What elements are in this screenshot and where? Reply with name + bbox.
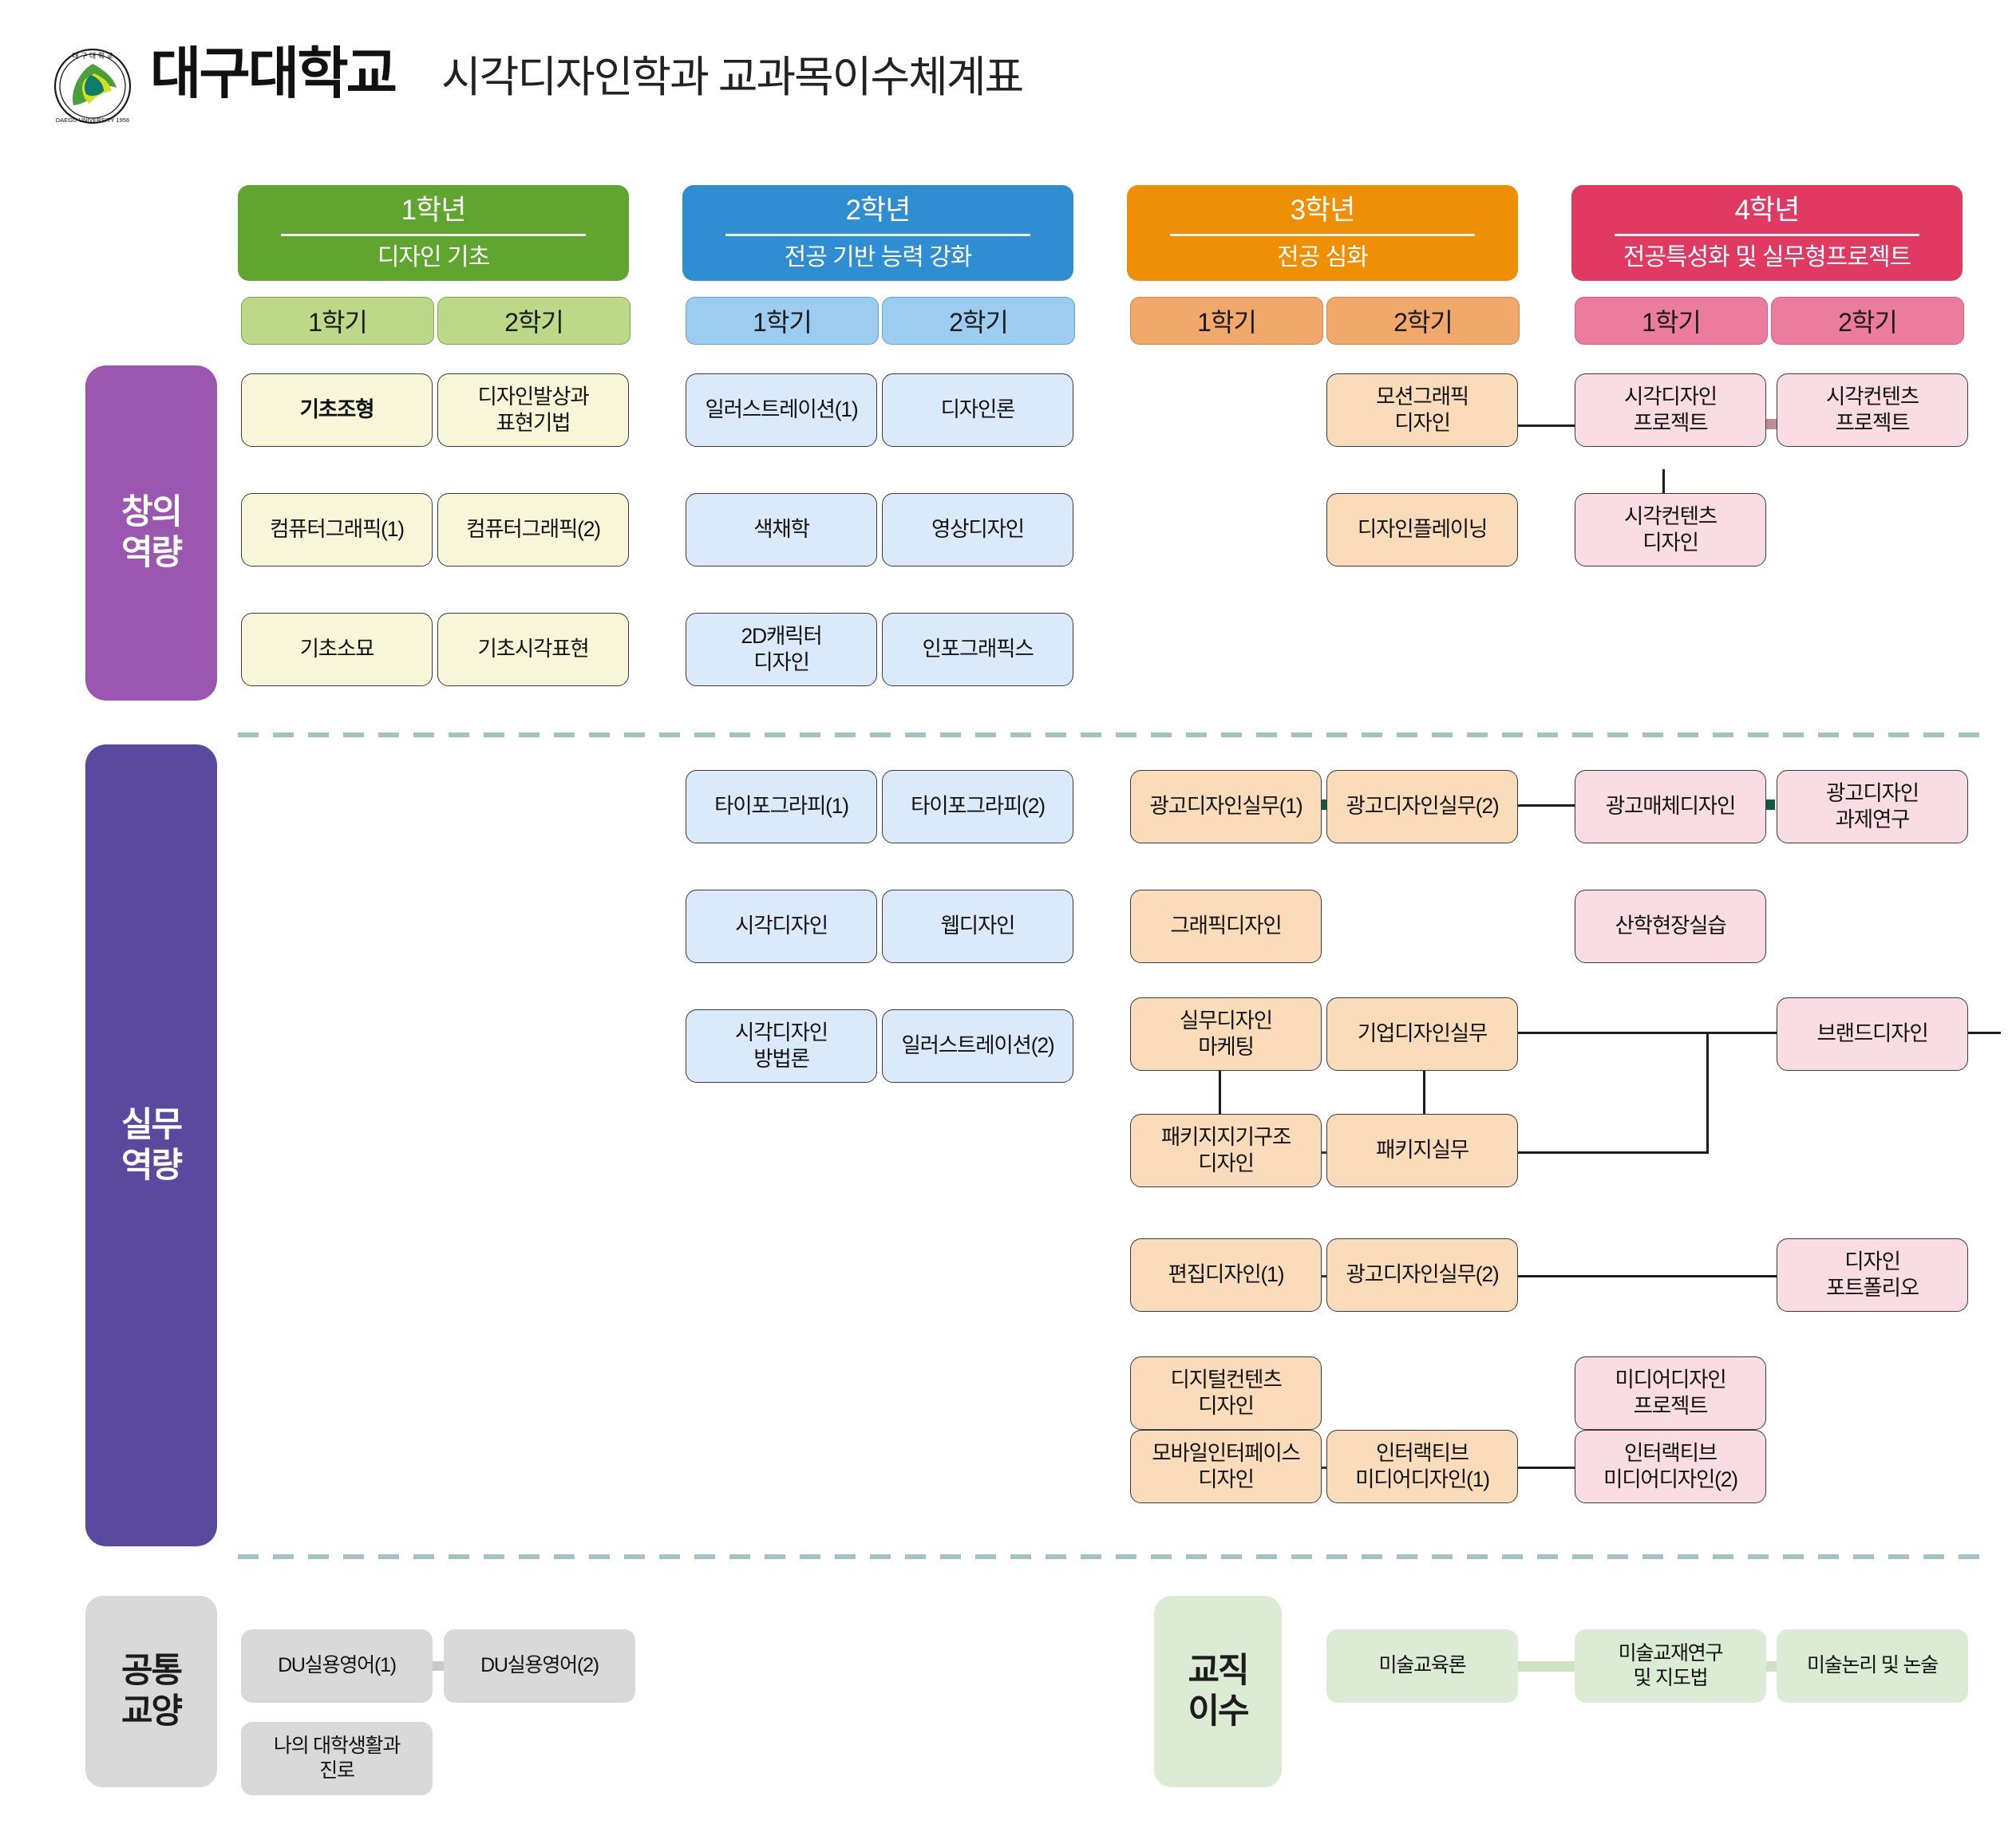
- year-label: 3학년: [1291, 196, 1355, 224]
- course-box[interactable]: 편집디자인(1): [1130, 1238, 1322, 1312]
- year-label: 4학년: [1735, 196, 1800, 224]
- course-name-line1: 미술논리 및 논술: [1807, 1653, 1938, 1678]
- connector-ad2-to-admedia: [1514, 804, 1579, 807]
- course-box[interactable]: 나의 대학생활과 진로: [241, 1722, 433, 1795]
- category-general-education: 공통 교양: [85, 1596, 217, 1787]
- divider-rule: [1615, 234, 1919, 236]
- university-logo-icon: 대 구 대 학 교 DAEGU UNIVERSITY 1956: [49, 46, 136, 126]
- course-box[interactable]: 디자인 포트폴리오: [1777, 1238, 1968, 1312]
- course-box[interactable]: 일러스트레이션(1): [686, 373, 877, 447]
- course-name-line1: 인포그래픽스: [922, 636, 1033, 662]
- course-name-line1: 기초시각표현: [477, 636, 588, 662]
- year-header-4: 4학년 전공특성화 및 실무형프로젝트: [1571, 185, 1963, 281]
- course-name-line1: 산학현장실습: [1615, 913, 1725, 939]
- course-name-line1: 디자인플레이닝: [1358, 516, 1487, 543]
- year-theme: 디자인 기초: [378, 246, 489, 270]
- course-name-line1: DU실용영어(2): [480, 1653, 599, 1678]
- course-name-line1: 광고매체디자인: [1606, 793, 1735, 819]
- semester-tab-y4s2[interactable]: 2학기: [1771, 297, 1964, 345]
- semester-tab-y2s1[interactable]: 1학기: [686, 297, 879, 345]
- category-practice: 실무 역량: [85, 744, 217, 1546]
- semester-tab-y1s2[interactable]: 2학기: [437, 297, 630, 345]
- course-name-line1: 디자인론: [941, 397, 1015, 423]
- divider-rule: [281, 234, 586, 236]
- course-box[interactable]: 미술논리 및 논술: [1777, 1629, 1968, 1703]
- semester-tab-y3s1[interactable]: 1학기: [1130, 297, 1323, 345]
- course-box[interactable]: 영상디자인: [882, 493, 1073, 567]
- course-name-line1: 2D캐릭터: [741, 623, 821, 649]
- course-box[interactable]: 인터랙티브 미디어디자인(1): [1326, 1430, 1518, 1503]
- course-name-line1: 광고디자인실무(1): [1149, 793, 1302, 819]
- svg-text:DAEGU UNIVERSITY 1956: DAEGU UNIVERSITY 1956: [56, 116, 129, 124]
- year-theme: 전공특성화 및 실무형프로젝트: [1623, 246, 1911, 270]
- course-name-line1: 패키지지기구조: [1161, 1124, 1291, 1151]
- course-name-line1: 컴퓨터그래픽(2): [466, 516, 600, 543]
- course-box[interactable]: 디자인발상과 표현기법: [437, 373, 629, 447]
- divider-rule: [1170, 234, 1475, 236]
- course-box[interactable]: 컴퓨터그래픽(1): [241, 493, 433, 567]
- course-name-line1: 미디어디자인: [1615, 1367, 1725, 1393]
- connector-art-theory-to-materials: [1518, 1661, 1579, 1672]
- connector-marketing-to-package-structure: [1219, 1069, 1221, 1114]
- page-header: 대 구 대 학 교 DAEGU UNIVERSITY 1956 대구대학교 시각…: [0, 0, 2016, 144]
- course-name-line1: 모바일인터페이스: [1152, 1440, 1299, 1467]
- semester-tab-y2s2[interactable]: 2학기: [882, 297, 1075, 345]
- year-label: 1학년: [401, 196, 466, 224]
- course-name-line1: 광고디자인: [1826, 780, 1919, 807]
- connector-interactive1-to-interactive2: [1514, 1467, 1579, 1469]
- course-box[interactable]: 패키지실무: [1326, 1114, 1518, 1187]
- course-box[interactable]: 광고매체디자인: [1575, 770, 1766, 843]
- course-name-line1: 타이포그라피(1): [714, 793, 848, 819]
- semester-label: 2학기: [504, 302, 563, 339]
- course-name-line1: 브랜드디자인: [1816, 1021, 1927, 1047]
- course-box[interactable]: 2D캐릭터 디자인: [686, 613, 877, 686]
- course-box[interactable]: 시각디자인: [686, 890, 877, 963]
- course-name-line1: 시각디자인: [735, 913, 828, 939]
- course-box[interactable]: 브랜드디자인: [1777, 997, 1968, 1071]
- year-label: 2학년: [846, 196, 911, 224]
- course-name-line1: 일러스트레이션(1): [705, 397, 857, 423]
- semester-tab-y4s1[interactable]: 1학기: [1575, 297, 1768, 345]
- course-box[interactable]: 패키지지기구조 디자인: [1130, 1114, 1322, 1187]
- semester-label: 1학기: [1197, 302, 1256, 339]
- course-name-line1: 광고디자인실무(2): [1346, 1261, 1498, 1288]
- course-name-line1: 미술교육론: [1378, 1653, 1465, 1678]
- course-name-line1: 기업디자인실무: [1358, 1021, 1487, 1047]
- course-box[interactable]: 광고디자인 과제연구: [1777, 770, 1968, 843]
- course-name-line1: 컴퓨터그래픽(1): [270, 516, 404, 543]
- course-name-line2: 프로젝트: [1826, 410, 1919, 436]
- connector-junction-vertical: [1706, 1032, 1709, 1153]
- course-name-line1: 시각컨텐츠: [1624, 503, 1717, 530]
- course-name-line1: 디자인발상과: [477, 384, 588, 410]
- course-name-line1: 인터랙티브: [1355, 1440, 1489, 1467]
- course-box[interactable]: 광고디자인실무(1): [1130, 770, 1322, 843]
- page-title: 시각디자인학과 교과목이수체계표: [441, 56, 1022, 99]
- course-name-line2: 프로젝트: [1615, 1393, 1725, 1419]
- course-box[interactable]: 타이포그라피(2): [882, 770, 1073, 843]
- course-box[interactable]: 시각디자인 방법론: [686, 1009, 877, 1083]
- course-name-line1: 시각컨텐츠: [1826, 384, 1919, 410]
- category-label-line1: 창의: [121, 492, 181, 533]
- connector-stub-english1-to-english2: [433, 1661, 444, 1671]
- category-creativity: 창의 역량: [85, 365, 217, 701]
- course-name-line1: 영상디자인: [931, 516, 1024, 543]
- course-name-line1: 나의 대학생활과: [274, 1734, 400, 1759]
- course-name-line1: 미술교재연구: [1619, 1641, 1723, 1666]
- course-box[interactable]: DU실용영어(1): [241, 1629, 433, 1703]
- course-name-line1: 패키지실무: [1376, 1137, 1469, 1163]
- course-name-line2: 및 지도법: [1619, 1666, 1723, 1691]
- course-name-line2: 디자인: [1624, 530, 1717, 556]
- svg-text:대 구 대 학 교: 대 구 대 학 교: [72, 52, 113, 60]
- course-name-line2: 디자인: [1152, 1467, 1299, 1493]
- course-name-line1: 디자인: [1826, 1249, 1919, 1275]
- semester-tab-y1s1[interactable]: 1학기: [241, 297, 434, 345]
- course-name-line1: 모션그래픽: [1376, 384, 1469, 410]
- year-header-3: 3학년 전공 심화: [1127, 185, 1518, 281]
- course-name-line2: 디자인: [1376, 410, 1469, 436]
- course-name-line2: 디자인: [1170, 1393, 1281, 1419]
- university-name: 대구대학교: [150, 45, 395, 101]
- course-box[interactable]: 일러스트레이션(2): [882, 1009, 1073, 1083]
- semester-label: 2학기: [1838, 302, 1897, 339]
- course-name-line1: 인터랙티브: [1603, 1440, 1737, 1467]
- course-name-line1: 시각디자인: [735, 1020, 828, 1046]
- course-name-line1: 기초소묘: [300, 636, 374, 662]
- course-box[interactable]: 컴퓨터그래픽(2): [437, 493, 629, 567]
- course-name-line2: 미디어디자인(2): [1603, 1467, 1737, 1493]
- course-box[interactable]: 미디어디자인 프로젝트: [1575, 1356, 1766, 1430]
- course-box[interactable]: 광고디자인실무(2): [1326, 770, 1518, 843]
- course-box[interactable]: 실무디자인 마케팅: [1130, 997, 1322, 1071]
- course-box[interactable]: 시각디자인 프로젝트: [1575, 373, 1766, 447]
- category-label-line1: 실무: [121, 1105, 181, 1146]
- year-header-1: 1학년 디자인 기초: [238, 185, 629, 281]
- year-header-2: 2학년 전공 기반 능력 강화: [682, 185, 1073, 281]
- year-theme: 전공 기반 능력 강화: [785, 246, 972, 270]
- category-teaching-certification: 교직 이수: [1154, 1596, 1282, 1787]
- category-label-line1: 교직: [1188, 1651, 1247, 1692]
- course-name-line2: 미디어디자인(1): [1355, 1467, 1489, 1493]
- course-box[interactable]: 디자인론: [882, 373, 1073, 447]
- course-box[interactable]: 미술교육론: [1326, 1629, 1518, 1703]
- connector-ad2b-to-portfolio: [1514, 1275, 1784, 1277]
- course-box[interactable]: 시각컨텐츠 디자인: [1575, 493, 1766, 567]
- course-name-line1: 색채학: [753, 516, 809, 543]
- course-box[interactable]: 그래픽디자인: [1130, 890, 1322, 963]
- course-box[interactable]: 산학현장실습: [1575, 890, 1766, 963]
- section-divider-bottom: [238, 1554, 1984, 1559]
- semester-label: 2학기: [1393, 302, 1453, 339]
- category-label-line1: 공통: [121, 1651, 181, 1692]
- year-theme: 전공 심화: [1277, 246, 1368, 270]
- course-name-line1: 디지털컨텐츠: [1170, 1367, 1281, 1393]
- course-name-line1: 편집디자인(1): [1168, 1261, 1284, 1288]
- course-box[interactable]: 인터랙티브 미디어디자인(2): [1575, 1430, 1766, 1503]
- course-name-line1: 광고디자인실무(2): [1346, 793, 1498, 819]
- course-name-line1: 타이포그라피(2): [911, 793, 1045, 819]
- course-name-line2: 디자인: [741, 649, 821, 676]
- course-box[interactable]: DU실용영어(2): [444, 1629, 635, 1703]
- course-name-line2: 방법론: [735, 1046, 828, 1072]
- divider-rule: [725, 234, 1030, 236]
- course-box[interactable]: 타이포그라피(1): [686, 770, 877, 843]
- connector-packagepractice-to-junction: [1514, 1151, 1709, 1154]
- course-name-line1: 웹디자인: [941, 913, 1015, 939]
- course-box[interactable]: 모션그래픽 디자인: [1326, 373, 1518, 447]
- semester-tab-y3s2[interactable]: 2학기: [1326, 297, 1520, 345]
- course-name-line1: 그래픽디자인: [1170, 913, 1281, 939]
- semester-label: 1학기: [308, 302, 367, 339]
- section-divider-top: [238, 732, 1984, 737]
- course-box[interactable]: 기초시각표현: [437, 613, 629, 686]
- course-name-line2: 과제연구: [1826, 807, 1919, 833]
- course-box[interactable]: 미술교재연구 및 지도법: [1575, 1629, 1766, 1703]
- category-label-line2: 역량: [121, 533, 181, 574]
- course-box[interactable]: 기초소묘: [241, 613, 433, 686]
- course-box[interactable]: 광고디자인실무(2): [1326, 1238, 1518, 1312]
- course-box[interactable]: 시각컨텐츠 프로젝트: [1777, 373, 1968, 447]
- course-box[interactable]: 색채학: [686, 493, 877, 567]
- course-box[interactable]: 웹디자인: [882, 890, 1073, 963]
- course-box[interactable]: 기업디자인실무: [1326, 997, 1518, 1071]
- course-box[interactable]: 모바일인터페이스 디자인: [1130, 1430, 1322, 1503]
- course-name-line2: 진로: [274, 1759, 400, 1783]
- course-name-line2: 프로젝트: [1624, 410, 1717, 436]
- course-name-line1: 일러스트레이션(2): [901, 1032, 1053, 1059]
- course-name-line2: 마케팅: [1180, 1034, 1272, 1060]
- semester-label: 2학기: [949, 302, 1008, 339]
- connector-motion-to-visualproject: [1514, 424, 1579, 427]
- course-name-line1: 기초조형: [300, 397, 374, 423]
- course-box[interactable]: 인포그래픽스: [882, 613, 1073, 686]
- category-label-line2: 역량: [121, 1146, 181, 1186]
- semester-label: 1학기: [1642, 302, 1701, 339]
- course-name-line1: DU실용영어(1): [278, 1653, 396, 1678]
- course-name-line1: 시각디자인: [1624, 384, 1717, 410]
- course-box[interactable]: 디지털컨텐츠 디자인: [1130, 1356, 1322, 1430]
- course-box[interactable]: 디자인플레이닝: [1326, 493, 1518, 567]
- course-name-line2: 포트폴리오: [1826, 1275, 1919, 1301]
- course-name-line2: 표현기법: [477, 410, 588, 436]
- course-name-line1: 실무디자인: [1180, 1008, 1272, 1034]
- curriculum-chart: 대 구 대 학 교 DAEGU UNIVERSITY 1956 대구대학교 시각…: [0, 0, 2016, 1832]
- semester-label: 1학기: [753, 302, 812, 339]
- category-label-line2: 교양: [121, 1692, 181, 1732]
- course-box[interactable]: 기초조형: [241, 373, 433, 447]
- category-label-line2: 이수: [1188, 1692, 1247, 1732]
- course-name-line2: 디자인: [1161, 1151, 1291, 1177]
- connector-corporate-to-packagepractice: [1423, 1069, 1425, 1114]
